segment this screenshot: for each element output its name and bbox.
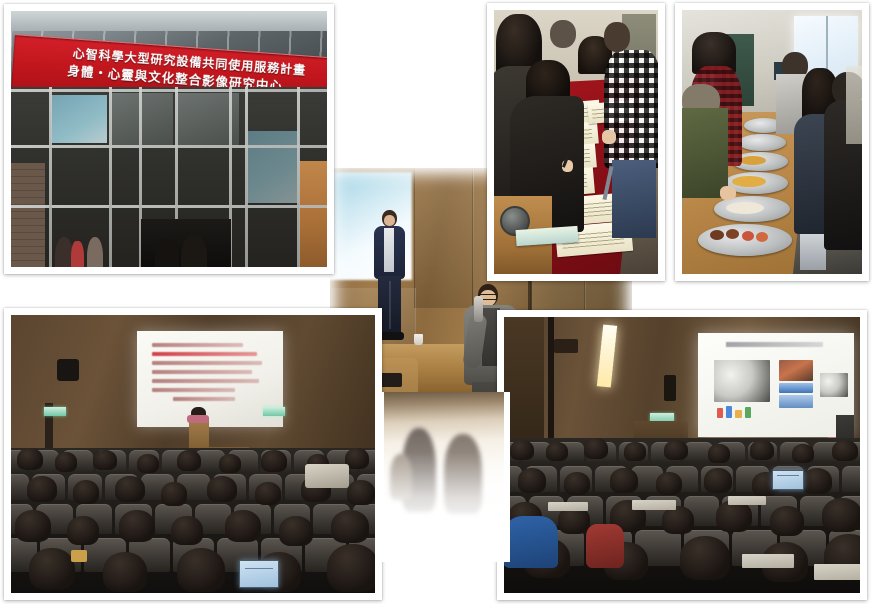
photo-edge: [378, 392, 384, 562]
exit-sign: [263, 407, 285, 416]
slide-brain-image: [820, 373, 848, 398]
left-brick-wall: [11, 163, 45, 267]
chart-bar: [726, 406, 732, 418]
wall-speaker: [57, 359, 79, 381]
audience-seating: [504, 438, 860, 593]
entrance-image: 心智科學大型研究設備共同使用服務計畫 身體‧心靈與文化整合影像研究中心 / fM…: [11, 11, 327, 267]
desk-tablet: [632, 500, 676, 510]
slide-title: [726, 342, 823, 347]
right-wall-panel: [299, 161, 327, 267]
registration-desk-photo[interactable]: [487, 3, 665, 281]
attendee-hand: [602, 130, 616, 144]
food-item: [726, 202, 764, 214]
face: [384, 215, 395, 226]
microphone: [474, 296, 483, 322]
projection-screen: [698, 333, 854, 437]
slide-panel: [779, 383, 813, 393]
auditorium-right-image: [504, 317, 860, 593]
chart-bar: [745, 407, 751, 418]
auditorium-left-image: [11, 315, 375, 593]
glass-pane: [111, 93, 173, 145]
desk-tablet: [728, 496, 766, 505]
attendee-body: [846, 66, 862, 144]
mullion: [49, 87, 52, 267]
food-item: [740, 156, 766, 165]
attendee-legs: [800, 234, 826, 270]
exit-sign: [44, 407, 66, 416]
paper-cup: [414, 334, 423, 345]
seated-attendee: [305, 464, 349, 488]
food-item: [732, 176, 766, 187]
shirt: [384, 228, 394, 272]
food-item: [710, 230, 724, 240]
mullion: [109, 87, 112, 267]
slide-photo: [779, 360, 813, 381]
glass-pane: [51, 95, 107, 143]
faded-image: [378, 392, 510, 562]
attendee-hand: [720, 186, 736, 200]
mullion: [245, 87, 248, 267]
attendee-head: [550, 20, 576, 48]
wall-decor: [554, 339, 578, 353]
food-item: [726, 229, 739, 239]
serving-tray: [738, 134, 786, 151]
refreshment-table-photo[interactable]: [675, 3, 869, 281]
faded-overlay-photo[interactable]: [378, 392, 510, 562]
attendee-head: [604, 22, 630, 52]
person-red-coat: [71, 241, 84, 267]
desk-tablet: [814, 564, 860, 580]
food-item: [742, 231, 754, 241]
building-entrance-photo[interactable]: 心智科學大型研究設備共同使用服務計畫 身體‧心靈與文化整合影像研究中心 / fM…: [4, 4, 334, 274]
mullion: [11, 205, 327, 208]
wall-speaker: [664, 375, 676, 401]
chart-bar: [717, 408, 723, 418]
laptop-screen: [772, 470, 804, 490]
attendee-blue-jacket: [504, 516, 558, 568]
attendee-plaid-shirt: [604, 50, 658, 168]
person-silhouette: [87, 237, 103, 267]
attendee-jacket: [682, 108, 728, 198]
lower-facade: [11, 87, 327, 267]
laptop-screen: [239, 560, 279, 588]
auditorium-left-photo[interactable]: [4, 308, 382, 600]
desk-tablet: [742, 554, 794, 568]
slide-panel: [779, 395, 813, 407]
bag: [71, 550, 87, 562]
attendee-jeans: [612, 160, 656, 238]
glass-pane: [247, 131, 299, 203]
backpack: [586, 524, 624, 568]
registration-image: [494, 10, 658, 274]
desk-tablet: [548, 502, 588, 511]
person-silhouette: [181, 235, 207, 267]
overexposure-veil: [378, 392, 510, 562]
slide-brain-image: [714, 360, 770, 402]
food-item: [756, 232, 768, 242]
projection-screen: [137, 331, 283, 427]
presenter-flowers: [187, 415, 209, 423]
auditorium-right-photo[interactable]: [497, 310, 867, 600]
photo-edge: [504, 392, 510, 562]
buffet-image: [682, 10, 862, 274]
photo-collage: 心智科學大型研究設備共同使用服務計畫 身體‧心靈與文化整合影像研究中心 / fM…: [0, 0, 872, 604]
audience-seating: [11, 448, 375, 593]
mullion: [297, 87, 300, 267]
chart-bar: [735, 410, 741, 418]
mullion: [11, 89, 327, 92]
slide-text-lines: [152, 343, 272, 410]
mullion: [11, 145, 327, 148]
